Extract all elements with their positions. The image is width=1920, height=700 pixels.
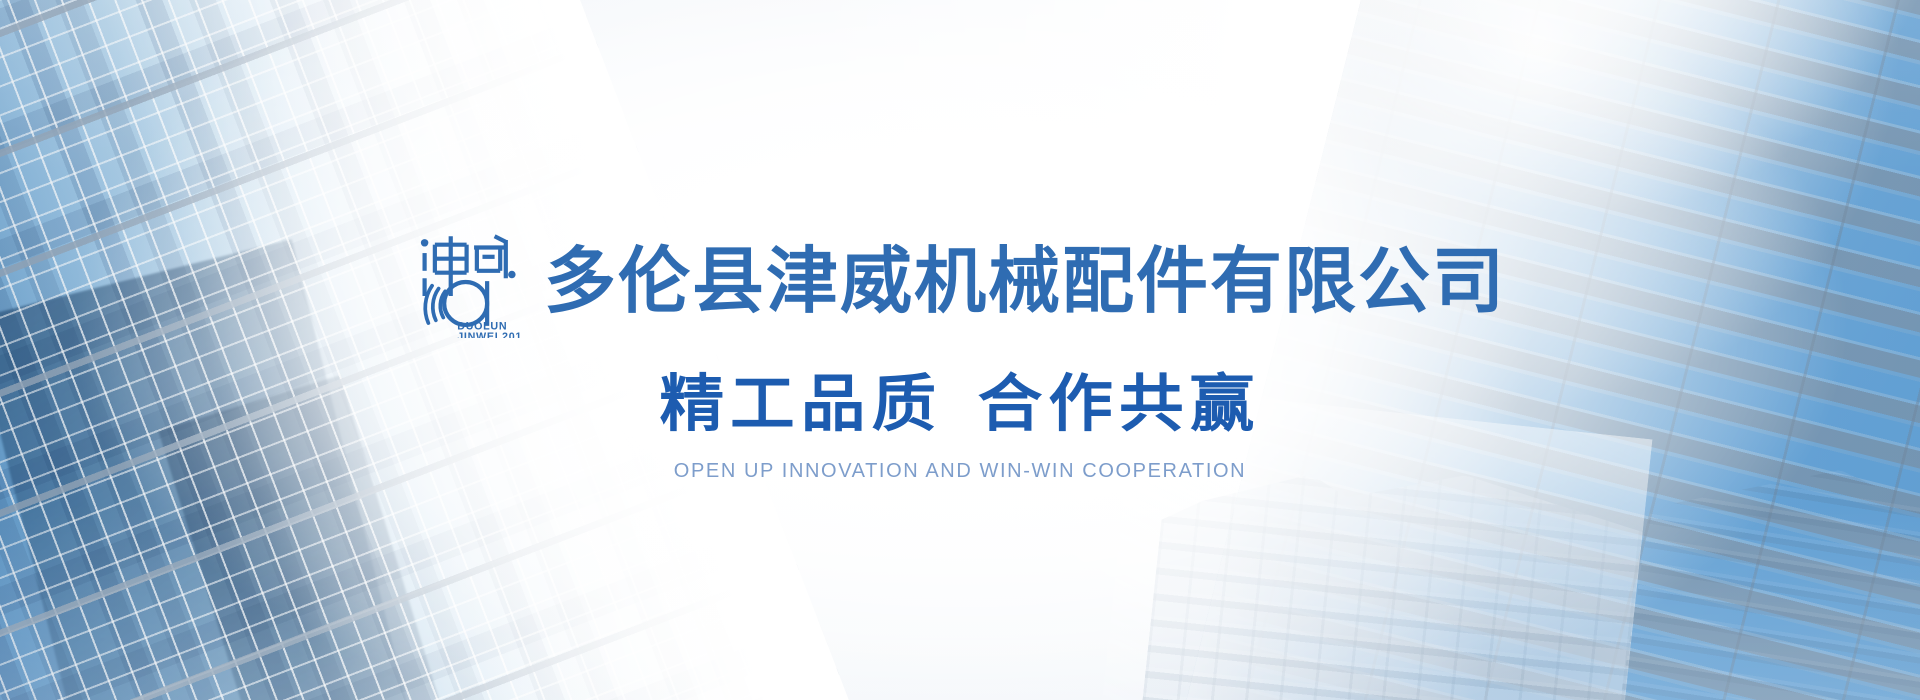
english-tagline: OPEN UP INNOVATION AND WIN-WIN COOPERATI… (674, 460, 1246, 483)
company-logo: DUOLUN JINWEI 2018 (414, 226, 522, 338)
logo-pinyin-jinwei: JINWEI 2018 (457, 330, 522, 337)
title-row: DUOLUN JINWEI 2018 多伦县津威机械配件有限公司 (414, 226, 1506, 338)
company-name: 多伦县津威机械配件有限公司 (544, 246, 1506, 318)
slogan-part-1: 精工品质 (659, 370, 942, 439)
slogan-part-2: 合作共赢 (978, 370, 1261, 439)
hero-banner: DUOLUN JINWEI 2018 多伦县津威机械配件有限公司 精工品质合作共… (0, 0, 1920, 700)
banner-content: DUOLUN JINWEI 2018 多伦县津威机械配件有限公司 精工品质合作共… (0, 0, 1920, 700)
slogan: 精工品质合作共赢 (659, 374, 1260, 436)
